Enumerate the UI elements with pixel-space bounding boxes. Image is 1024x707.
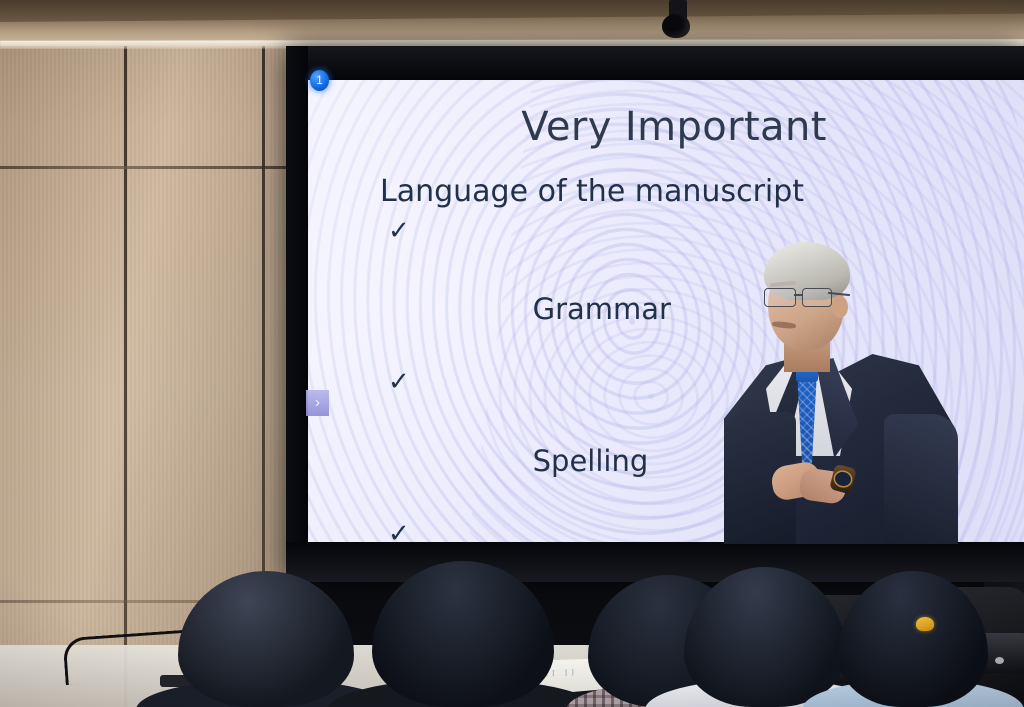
eyeglass-bridge [794,294,803,296]
lecture-room-photo: 1 › Very Important Language of the manus… [0,0,1024,707]
ceiling-camera-icon [660,0,694,40]
chevron-right-icon[interactable]: › [306,390,329,416]
audience-head-5 [838,571,988,707]
chair-stud [995,657,1004,664]
camera-lens [662,14,690,38]
audience-hair [684,567,846,707]
audience-head-2 [372,561,554,707]
check-icon: ✓ [388,366,410,400]
wall-seam-horizontal-1 [0,166,300,169]
slide-bullet-label: Grammar [533,292,671,326]
audience-head-4 [684,567,846,707]
soffit-shadow [0,0,1024,22]
check-icon: ✓ [388,215,410,249]
wall-seam-vertical-1 [124,44,127,707]
display-bezel-top [286,46,1024,80]
slide-lead-line: Language of the manuscript [380,172,1024,212]
watch-face [834,470,853,487]
presenter [722,242,972,542]
eyeglasses-icon [762,288,844,306]
touch-point-badge[interactable]: 1 [310,70,329,91]
gooseneck-microphone-icon [64,635,184,681]
slide-title: Very Important [308,104,1024,150]
display-bezel-left [286,46,308,582]
ceiling-soffit [0,0,1024,46]
audience-hair [838,571,988,707]
slide-bullet-label: Spelling [533,444,649,478]
audience-hair [372,561,554,707]
check-icon: ✓ [388,518,410,542]
presenter-arm-right [884,414,958,544]
hair-clip-icon [916,617,934,631]
audience-hair [178,571,354,707]
eyeglass-lens-left [764,288,796,307]
audience-head-1 [178,571,354,707]
